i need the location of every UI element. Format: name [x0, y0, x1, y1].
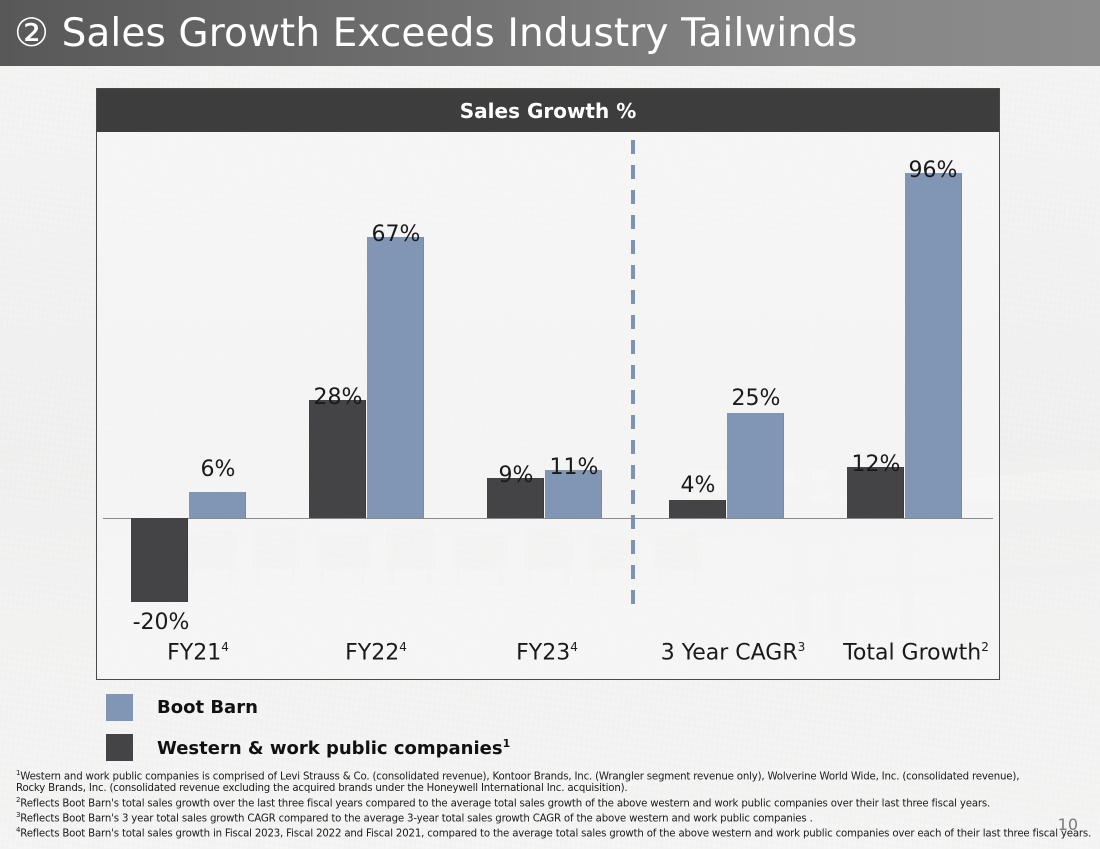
chart-plot-inner: -20% 6% FY214 28% 67% FY224 [103, 132, 993, 679]
bar-group-bars: 4% 25% [647, 132, 825, 518]
category-label-total-growth: Total Growth2 [796, 640, 1036, 665]
legend-swatch-western-work [106, 734, 133, 761]
bar-western-fy22[interactable] [309, 400, 366, 518]
bar-label-bootbarn-total-growth: 96% [878, 158, 988, 183]
footnote-text: Reflects Boot Barn's total sales growth … [20, 798, 990, 809]
footnote-4: 4Reflects Boot Barn's total sales growth… [16, 825, 1036, 840]
legend-label-western-work: Western & work public companies1 [157, 737, 510, 759]
bar-label-western-fy21: -20% [106, 610, 216, 635]
category-label-superscript: 4 [399, 640, 407, 654]
category-label-superscript: 4 [570, 640, 578, 654]
bar-group-bars: 12% 96% [825, 132, 1003, 518]
category-label-text: FY22 [345, 640, 399, 665]
category-label-text: Total Growth [843, 640, 981, 665]
legend-label-boot-barn: Boot Barn [157, 697, 258, 718]
legend-item-western-work[interactable]: Western & work public companies1 [106, 734, 510, 761]
slide: ② Sales Growth Exceeds Industry Tailwind… [0, 0, 1100, 849]
sales-growth-chart: Sales Growth % -20% 6% FY214 [96, 88, 1000, 680]
bar-group-fy21: -20% 6% FY214 [109, 132, 287, 679]
footnote-text: Reflects Boot Barn's 3 year total sales … [20, 813, 812, 824]
bar-label-western-fy22: 28% [283, 385, 393, 410]
bar-group-bars: 28% 67% [287, 132, 465, 518]
bar-bootbarn-fy21[interactable] [189, 492, 246, 518]
chart-plot-area: -20% 6% FY214 28% 67% FY224 [97, 132, 999, 679]
bar-label-bootbarn-fy21: 6% [163, 457, 273, 482]
bar-group-bars: -20% 6% [109, 132, 287, 518]
bar-bootbarn-3-year-cagr[interactable] [727, 413, 784, 518]
category-label-superscript: 4 [221, 640, 229, 654]
bar-group-fy23: 9% 11% FY234 [465, 132, 643, 679]
footnote-2: 2Reflects Boot Barn's total sales growth… [16, 795, 1036, 810]
footnote-text: Reflects Boot Barn's total sales growth … [20, 828, 1091, 839]
legend-item-boot-barn[interactable]: Boot Barn [106, 694, 510, 721]
bar-bootbarn-fy22[interactable] [367, 237, 424, 518]
legend-label-text: Western & work public companies [157, 738, 503, 759]
bar-western-fy21[interactable] [131, 518, 188, 602]
bar-group-fy22: 28% 67% FY224 [287, 132, 465, 679]
bar-group-total-growth: 12% 96% Total Growth2 [825, 132, 1003, 679]
category-label-text: FY23 [516, 640, 570, 665]
category-label-text: FY21 [167, 640, 221, 665]
chart-title: Sales Growth % [460, 99, 636, 123]
bar-label-western-3-year-cagr: 4% [643, 473, 753, 498]
category-label-superscript: 2 [981, 640, 989, 654]
chart-legend: Boot Barn Western & work public companie… [106, 694, 510, 774]
page-title: ② Sales Growth Exceeds Industry Tailwind… [0, 11, 857, 56]
bar-label-western-total-growth: 12% [821, 452, 931, 477]
chart-header: Sales Growth % [97, 89, 999, 132]
footnote-1: 1Western and work public companies is co… [16, 768, 1036, 795]
bar-group-bars: 9% 11% [465, 132, 643, 518]
legend-label-superscript: 1 [503, 737, 511, 750]
footnotes: 1Western and work public companies is co… [16, 768, 1036, 840]
title-number-badge: ② [14, 11, 49, 56]
footnote-text: Western and work public companies is com… [16, 771, 1019, 794]
legend-swatch-boot-barn [106, 694, 133, 721]
slide-title-bar: ② Sales Growth Exceeds Industry Tailwind… [0, 0, 1100, 66]
bar-western-3-year-cagr[interactable] [669, 500, 726, 518]
bar-label-bootbarn-fy22: 67% [341, 222, 451, 247]
footnote-3: 3Reflects Boot Barn's 3 year total sales… [16, 810, 1036, 825]
title-label: Sales Growth Exceeds Industry Tailwinds [62, 11, 858, 56]
bar-group-3-year-cagr: 4% 25% 3 Year CAGR3 [647, 132, 825, 679]
page-number: 10 [1058, 815, 1078, 834]
bar-label-bootbarn-3-year-cagr: 25% [701, 386, 811, 411]
bar-label-bootbarn-fy23: 11% [519, 455, 629, 480]
category-label-text: 3 Year CAGR [661, 640, 798, 665]
legend-label-text: Boot Barn [157, 697, 258, 718]
